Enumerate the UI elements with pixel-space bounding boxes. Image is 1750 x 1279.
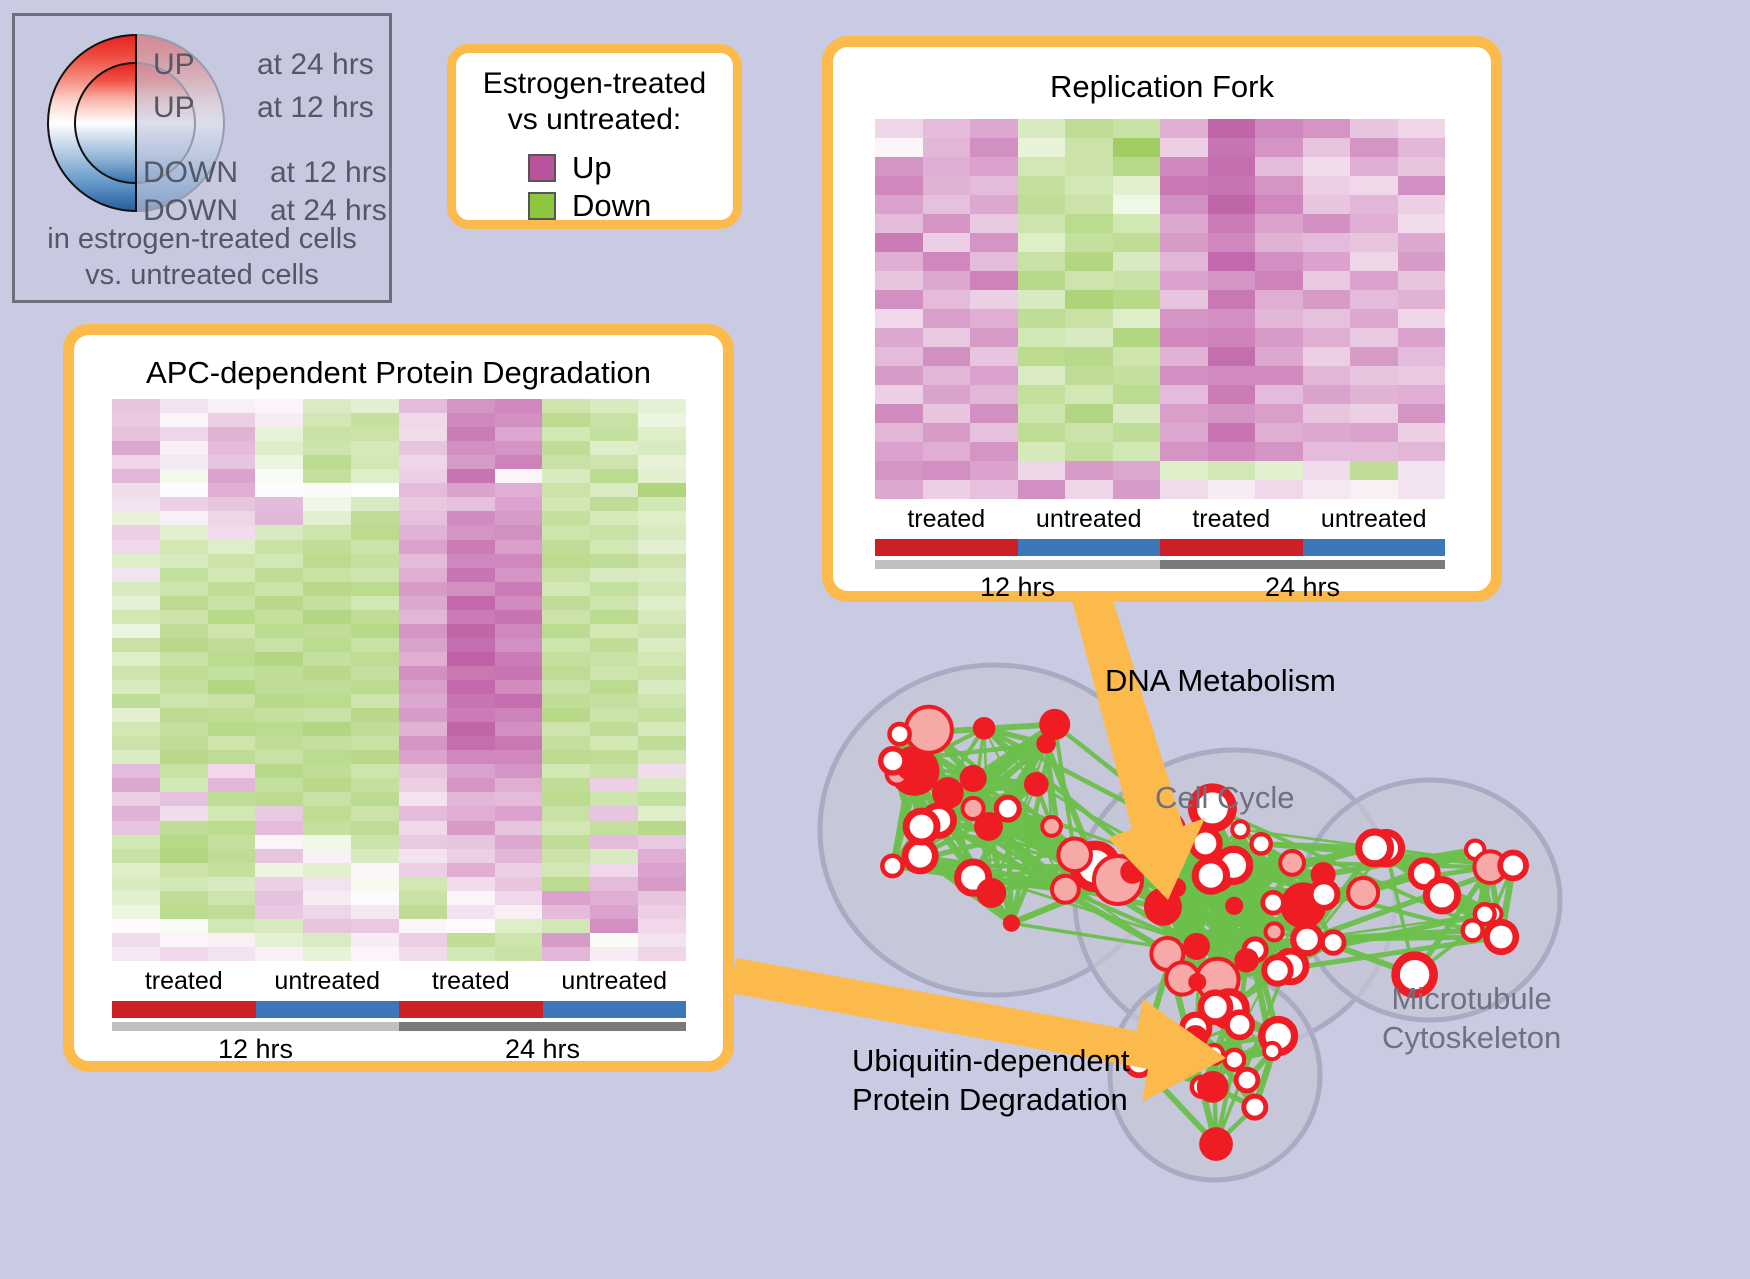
- up-swatch: [528, 154, 556, 182]
- heatmap-cell: [351, 736, 399, 750]
- heatmap-cell: [208, 652, 256, 666]
- heatmap-cell: [1398, 271, 1446, 290]
- apc-group-label-treated-12: treated: [112, 967, 256, 996]
- heatmap-cell: [303, 441, 351, 455]
- network-node: [1024, 772, 1049, 797]
- heatmap-cell: [208, 610, 256, 624]
- heatmap-cell: [1303, 176, 1351, 195]
- heatmap-cell: [303, 835, 351, 849]
- heatmap-cell: [1065, 214, 1113, 233]
- heatmap-cell: [1255, 176, 1303, 195]
- heatmap-cell: [875, 423, 923, 442]
- heatmap-cell: [208, 863, 256, 877]
- heatmap-cell: [255, 483, 303, 497]
- heatmap-cell: [590, 863, 638, 877]
- heatmap-cell: [1208, 233, 1256, 252]
- heatmap-cell: [495, 666, 543, 680]
- heatmap-cell: [638, 554, 686, 568]
- heatmap-cell: [1208, 480, 1256, 499]
- heatmap-cell: [1018, 385, 1066, 404]
- heatmap-cell: [112, 652, 160, 666]
- heatmap-cell: [447, 806, 495, 820]
- heatmap-cell: [351, 891, 399, 905]
- heatmap-cell: [590, 736, 638, 750]
- heatmap-cell: [590, 582, 638, 596]
- heatmap-cell: [923, 252, 971, 271]
- heatmap-cell: [638, 624, 686, 638]
- heatmap-cell: [208, 624, 256, 638]
- network-node: [1188, 973, 1206, 991]
- heatmap-cell: [303, 511, 351, 525]
- heatmap-cell: [447, 919, 495, 933]
- network-node: [1156, 1043, 1174, 1061]
- heatmap-cell: [303, 652, 351, 666]
- heatmap-cell: [447, 568, 495, 582]
- apc-bar-treated-12: [112, 1001, 256, 1018]
- heatmap-cell: [255, 554, 303, 568]
- heatmap-cell: [1018, 252, 1066, 271]
- heatmap-cell: [495, 947, 543, 961]
- heatmap-cell: [208, 469, 256, 483]
- heatmap-cell: [970, 138, 1018, 157]
- heatmap-cell: [542, 792, 590, 806]
- heatmap-cell: [1398, 138, 1446, 157]
- heatmap-cell: [399, 778, 447, 792]
- network-node: [1266, 923, 1283, 940]
- heatmap-cell: [303, 638, 351, 652]
- heatmap-cell: [208, 554, 256, 568]
- heatmap-cell: [590, 722, 638, 736]
- heatmap-cell: [590, 596, 638, 610]
- heatmap-cell: [638, 933, 686, 947]
- heatmap-cell: [112, 849, 160, 863]
- heatmap-cell: [351, 905, 399, 919]
- heatmap-cell: [923, 480, 971, 499]
- heatmap-cell: [1350, 461, 1398, 480]
- heatmap-cell: [351, 596, 399, 610]
- heatmap-cell: [208, 441, 256, 455]
- heatmap-cell: [447, 933, 495, 947]
- heatmap-cell: [590, 511, 638, 525]
- heatmap-cell: [303, 806, 351, 820]
- panel-title-replication: Replication Fork: [833, 69, 1491, 105]
- heatmap-cell: [160, 835, 208, 849]
- heatmap-cell: [1303, 138, 1351, 157]
- heatmap-cell: [208, 413, 256, 427]
- heatmap-cell: [1018, 195, 1066, 214]
- heatmap-cell: [351, 652, 399, 666]
- heatmap-cell: [1350, 233, 1398, 252]
- heatmap-cell: [303, 863, 351, 877]
- heatmap-cell: [1113, 328, 1161, 347]
- heatmap-cell: [1208, 423, 1256, 442]
- heatmap-cell: [495, 568, 543, 582]
- heatmap-cell: [1255, 328, 1303, 347]
- heatmap-cell: [255, 582, 303, 596]
- heatmap-cell: [1303, 461, 1351, 480]
- heatmap-cell: [1160, 480, 1208, 499]
- heatmap-cell: [1398, 195, 1446, 214]
- heatmap-cell: [208, 666, 256, 680]
- heatmap-cell: [875, 309, 923, 328]
- heatmap-cell: [923, 309, 971, 328]
- heatmap-cell: [542, 497, 590, 511]
- heatmap-cell: [1255, 461, 1303, 480]
- heatmap-cell: [495, 750, 543, 764]
- heatmap-cell: [112, 919, 160, 933]
- heatmap-cell: [590, 666, 638, 680]
- heatmap-cell: [1065, 366, 1113, 385]
- network-node: [1074, 845, 1116, 887]
- heatmap-cell: [303, 624, 351, 638]
- heatmap-cell: [1398, 309, 1446, 328]
- heatmap-cell: [1303, 328, 1351, 347]
- heatmap-cell: [923, 366, 971, 385]
- heatmap-cell: [399, 540, 447, 554]
- heatmap-cell: [208, 708, 256, 722]
- heatmap-cell: [1350, 195, 1398, 214]
- heatmap-cell: [255, 835, 303, 849]
- heatmap-cell: [1303, 385, 1351, 404]
- heatmap-cell: [875, 157, 923, 176]
- heatmap-cell: [590, 694, 638, 708]
- heatmap-cell: [160, 413, 208, 427]
- network-node: [1311, 881, 1338, 908]
- heatmap-cell: [112, 497, 160, 511]
- heatmap-cell: [351, 441, 399, 455]
- heatmap-cell: [1350, 138, 1398, 157]
- heatmap-cell: [1160, 138, 1208, 157]
- heatmap-cell: [160, 554, 208, 568]
- heatmap-cell: [112, 483, 160, 497]
- network-node: [1244, 939, 1266, 961]
- heatmap-cell: [638, 694, 686, 708]
- heatmap-cell: [1255, 347, 1303, 366]
- heatmap-cell: [970, 195, 1018, 214]
- heatmap-cell: [1160, 461, 1208, 480]
- heatmap-cell: [875, 119, 923, 138]
- group-label-treated-24: treated: [1160, 505, 1303, 534]
- heatmap-cell: [112, 708, 160, 722]
- heatmap-cell: [542, 399, 590, 413]
- heatmap-cell: [590, 877, 638, 891]
- network-node: [1486, 922, 1515, 951]
- heatmap-cell: [255, 792, 303, 806]
- heatmap-cell: [875, 233, 923, 252]
- heatmap-cell: [1113, 214, 1161, 233]
- heatmap-cell: [1350, 423, 1398, 442]
- network-node: [1218, 849, 1250, 881]
- heatmap-cell: [638, 891, 686, 905]
- network-node: [1039, 709, 1070, 740]
- heatmap-cell: [399, 596, 447, 610]
- heatmap-cell: [1398, 176, 1446, 195]
- heatmap-cell: [303, 933, 351, 947]
- heatmap-cell: [160, 624, 208, 638]
- heatmap-cell: [875, 366, 923, 385]
- heatmap-cell: [970, 442, 1018, 461]
- heatmap-cell: [542, 736, 590, 750]
- heatmap-cell: [160, 708, 208, 722]
- heatmap-cell: [1303, 366, 1351, 385]
- heatmap-cell: [160, 525, 208, 539]
- heatmap-cell: [590, 933, 638, 947]
- heatmap-cell: [495, 525, 543, 539]
- heatmap-cell: [255, 413, 303, 427]
- heatmap-cell: [590, 849, 638, 863]
- heatmap-cell: [447, 610, 495, 624]
- heatmap-cell: [351, 849, 399, 863]
- heatmap-cell: [495, 821, 543, 835]
- network-node: [1280, 851, 1304, 875]
- heatmap-cell: [590, 427, 638, 441]
- network-node: [1411, 860, 1438, 887]
- heatmap-cell: [1160, 423, 1208, 442]
- heatmap-cell: [1398, 404, 1446, 423]
- heatmap-cell: [1350, 480, 1398, 499]
- heatmap-cell: [1160, 328, 1208, 347]
- network-node: [1370, 832, 1401, 863]
- heatmap-cell: [255, 821, 303, 835]
- heatmap-cell: [303, 554, 351, 568]
- heatmap-cell: [875, 442, 923, 461]
- heatmap-cell: [542, 933, 590, 947]
- heatmap-cell: [303, 568, 351, 582]
- heatmap-cell: [1113, 252, 1161, 271]
- group-colorbar-replication: [875, 539, 1445, 556]
- heatmap-cell: [303, 413, 351, 427]
- heatmap-cell: [208, 764, 256, 778]
- heatmap-cell: [970, 271, 1018, 290]
- heatmap-cell: [255, 722, 303, 736]
- heatmap-cell: [1398, 347, 1446, 366]
- heatmap-cell: [495, 708, 543, 722]
- heatmap-cell: [112, 863, 160, 877]
- heatmap-cell: [542, 469, 590, 483]
- arrow-replication-to-dna: [1072, 600, 1205, 900]
- heatmap-cell: [399, 750, 447, 764]
- legend-note-line2: vs. untreated cells: [15, 257, 389, 293]
- network-node: [1475, 904, 1495, 924]
- heatmap-cell: [875, 176, 923, 195]
- heatmap-cell: [1350, 385, 1398, 404]
- heatmap-cell: [638, 652, 686, 666]
- heatmap-cell: [638, 863, 686, 877]
- key-item-up: Up: [528, 149, 651, 187]
- heatmap-cell: [875, 404, 923, 423]
- heatmap-cell: [923, 328, 971, 347]
- heatmap-cell: [1160, 214, 1208, 233]
- heatmap-cell: [542, 540, 590, 554]
- network-node: [1197, 1071, 1229, 1103]
- heatmap-cell: [399, 568, 447, 582]
- heatmap-cell: [447, 778, 495, 792]
- network-node: [1322, 932, 1344, 954]
- network-node: [963, 798, 984, 819]
- heatmap-cell: [447, 638, 495, 652]
- heatmap-cell: [542, 511, 590, 525]
- heatmap-cell: [495, 806, 543, 820]
- heatmap-cell: [495, 596, 543, 610]
- heatmap-cell: [1208, 195, 1256, 214]
- heatmap-cell: [970, 214, 1018, 233]
- heatmap-cell: [495, 638, 543, 652]
- heatmap-cell: [160, 947, 208, 961]
- heatmap-cell: [255, 891, 303, 905]
- heatmap-cell: [160, 764, 208, 778]
- cluster-label-cell-cycle: Cell Cycle: [1155, 780, 1295, 816]
- network-node: [1205, 1045, 1224, 1064]
- heatmap-cell: [638, 525, 686, 539]
- heatmap-cell: [495, 652, 543, 666]
- heatmap-cell: [1018, 480, 1066, 499]
- heatmap-cell: [351, 694, 399, 708]
- heatmap-cell: [351, 413, 399, 427]
- heatmap-cell: [1065, 119, 1113, 138]
- heatmap-cell: [970, 480, 1018, 499]
- heatmap-cell: [255, 427, 303, 441]
- heatmap-cell: [303, 722, 351, 736]
- heatmap-cell: [399, 455, 447, 469]
- heatmap-cell: [351, 582, 399, 596]
- heatmap-cell: [255, 863, 303, 877]
- heatmap-cell: [1018, 309, 1066, 328]
- heatmap-cell: [303, 708, 351, 722]
- heatmap-cell: [399, 877, 447, 891]
- network-node: [1463, 920, 1483, 940]
- heatmap-cell: [1065, 423, 1113, 442]
- heatmap-cell: [1018, 442, 1066, 461]
- heatmap-cell: [447, 497, 495, 511]
- heatmap-cell: [495, 736, 543, 750]
- heatmap-cell: [1160, 157, 1208, 176]
- heatmap-cell: [160, 792, 208, 806]
- heatmap-cell: [1208, 404, 1256, 423]
- heatmap-cell: [542, 427, 590, 441]
- network-node: [1348, 878, 1378, 908]
- heatmap-cell: [923, 138, 971, 157]
- heatmap-cell: [1303, 404, 1351, 423]
- heatmap-cell: [160, 750, 208, 764]
- heatmap-cell: [255, 610, 303, 624]
- heatmap-cell: [112, 525, 160, 539]
- heatmap-cell: [303, 694, 351, 708]
- heatmap-cell: [495, 919, 543, 933]
- heatmap-cell: [112, 933, 160, 947]
- time-label-12: 12 hrs: [875, 572, 1160, 603]
- heatmap-cell: [1160, 233, 1208, 252]
- heatmap-cell: [1303, 309, 1351, 328]
- heatmap-cell: [399, 483, 447, 497]
- heatmap-cell: [875, 138, 923, 157]
- heatmap-cell: [255, 680, 303, 694]
- network-node: [958, 862, 989, 893]
- heatmap-cell: [1018, 138, 1066, 157]
- key-label-up: Up: [572, 150, 612, 186]
- heatmap-cell: [542, 877, 590, 891]
- heatmap-cell: [399, 863, 447, 877]
- heatmap-cell: [255, 736, 303, 750]
- heatmap-cell: [399, 764, 447, 778]
- heatmap-cell: [1160, 290, 1208, 309]
- heatmap-cell: [160, 483, 208, 497]
- network-node: [1227, 1012, 1252, 1037]
- apc-group-label-treated-24: treated: [399, 967, 543, 996]
- heatmap-cell: [495, 399, 543, 413]
- heatmap-cell: [208, 849, 256, 863]
- heatmap-cell: [970, 309, 1018, 328]
- heatmap-cell: [1018, 119, 1066, 138]
- heatmap-cell: [1065, 233, 1113, 252]
- heatmap-cell: [590, 792, 638, 806]
- heatmap-cell: [495, 413, 543, 427]
- heatmap-cell: [1113, 271, 1161, 290]
- heatmap-cell: [1398, 233, 1446, 252]
- heatmap-cell: [638, 582, 686, 596]
- heatmap-cell: [970, 176, 1018, 195]
- heatmap-cell: [590, 483, 638, 497]
- heatmap-cell: [255, 596, 303, 610]
- heatmap-cell: [208, 638, 256, 652]
- heatmap-cell: [638, 666, 686, 680]
- heatmap-cell: [447, 582, 495, 596]
- heatmap-cell: [1018, 233, 1066, 252]
- heatmap-cell: [590, 525, 638, 539]
- heatmap-cell: [208, 399, 256, 413]
- heatmap-cell: [590, 399, 638, 413]
- network-node: [1144, 888, 1182, 926]
- apc-time-bar-24: [399, 1022, 686, 1031]
- heatmap-cell: [399, 624, 447, 638]
- heatmap-cell: [112, 947, 160, 961]
- network-node: [889, 746, 939, 796]
- heatmap-cell: [590, 540, 638, 554]
- heatmap-cell: [208, 821, 256, 835]
- heatmap-cell: [495, 891, 543, 905]
- cluster-label-dna-metabolism: DNA Metabolism: [1105, 663, 1336, 699]
- network-node: [1036, 734, 1056, 754]
- heatmap-cell: [351, 792, 399, 806]
- heatmap-cell: [1160, 271, 1208, 290]
- heatmap-cell: [542, 652, 590, 666]
- heatmap-cell: [923, 404, 971, 423]
- network-node: [882, 856, 902, 876]
- heatmap-cell: [638, 399, 686, 413]
- heatmap-cell: [1350, 157, 1398, 176]
- heatmap-cell: [255, 399, 303, 413]
- heatmap-cell: [1255, 290, 1303, 309]
- heatmap-cell: [112, 722, 160, 736]
- heatmap-cell: [160, 694, 208, 708]
- heatmap-cell: [447, 525, 495, 539]
- heatmap-cell: [1113, 404, 1161, 423]
- network-node: [1148, 838, 1172, 862]
- heatmap-cell: [1255, 195, 1303, 214]
- heatmap-cell: [447, 792, 495, 806]
- heatmap-cell: [638, 483, 686, 497]
- network-node: [960, 765, 987, 792]
- heatmap-cell: [351, 722, 399, 736]
- heatmap-cell: [351, 835, 399, 849]
- heatmap-cell: [208, 750, 256, 764]
- heatmap-cell: [590, 680, 638, 694]
- heatmap-cell: [399, 722, 447, 736]
- cluster-halo-0: [820, 665, 1170, 995]
- heatmap-cell: [590, 750, 638, 764]
- heatmap-cell: [255, 933, 303, 947]
- heatmap-cell: [1255, 138, 1303, 157]
- heatmap-cell: [1065, 347, 1113, 366]
